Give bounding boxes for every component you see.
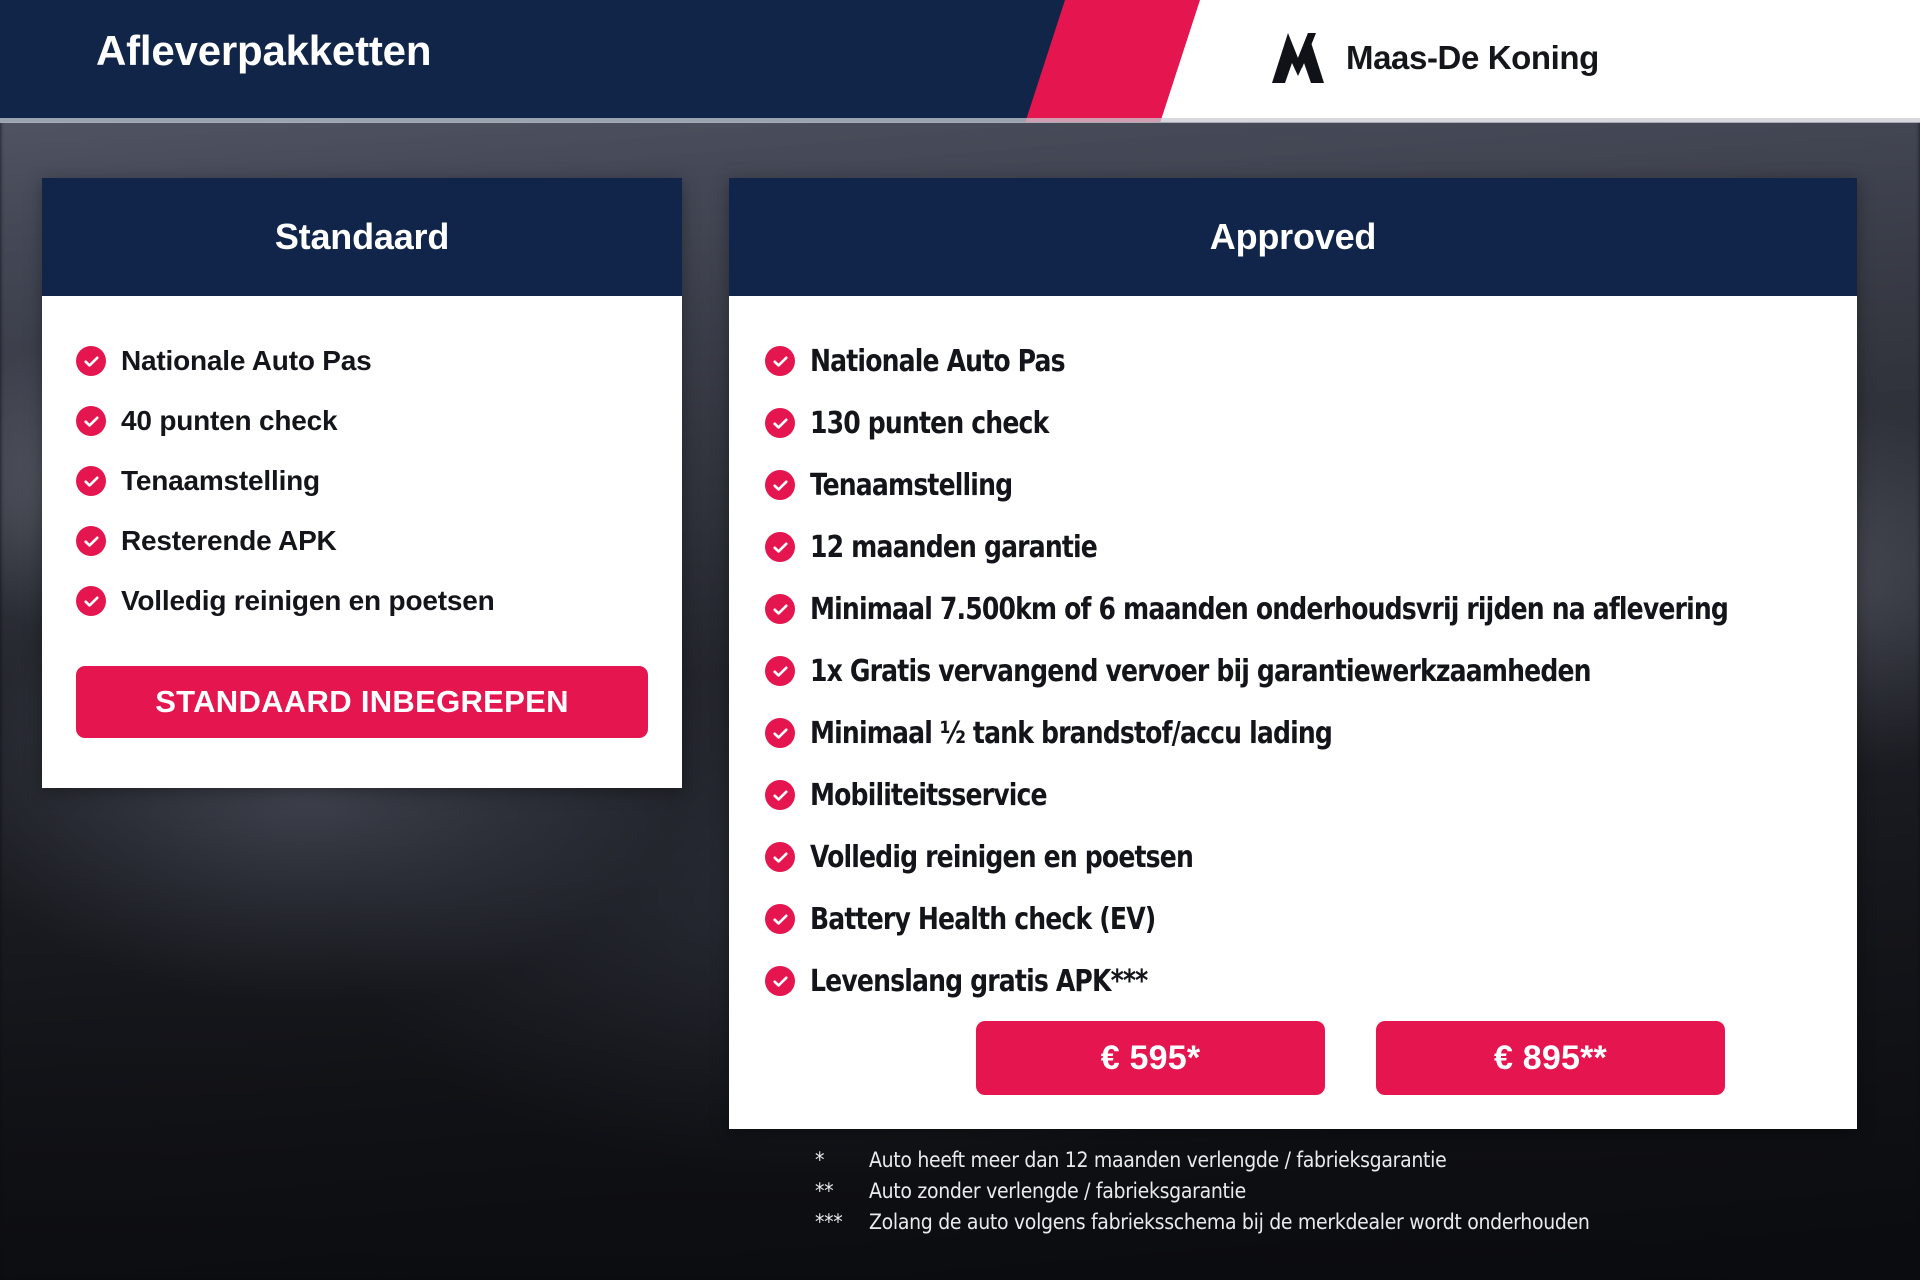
check-circle-icon — [76, 406, 106, 436]
approved-feature-label: Tenaamstelling — [810, 464, 1012, 508]
list-item: Battery Health check (EV) — [765, 898, 1821, 942]
list-item: Tenaamstelling — [76, 461, 648, 501]
header-divider — [0, 118, 1920, 123]
standaard-feature-list: Nationale Auto Pas 40 punten check Tenaa… — [76, 341, 648, 621]
check-circle-icon — [765, 532, 795, 562]
maas-de-koning-m-mark-icon — [1268, 30, 1328, 86]
check-circle-icon — [76, 586, 106, 616]
standaard-feature-label: Resterende APK — [121, 521, 337, 561]
footnote-item: ** Auto zonder verlengde / fabrieksgaran… — [815, 1176, 1590, 1207]
approved-feature-list: Nationale Auto Pas 130 punten check Tena… — [765, 340, 1821, 1004]
list-item: 130 punten check — [765, 402, 1821, 446]
brand-logo: Maas-De Koning — [1268, 30, 1599, 86]
footnote-item: * Auto heeft meer dan 12 maanden verleng… — [815, 1145, 1590, 1176]
footnote-text: Zolang de auto volgens fabrieksschema bi… — [869, 1207, 1590, 1238]
standaard-package-card: Standaard Nationale Auto Pas 40 punten c… — [42, 178, 682, 788]
list-item: Minimaal ½ tank brandstof/accu lading — [765, 712, 1821, 756]
approved-feature-label: Battery Health check (EV) — [810, 898, 1155, 942]
list-item: Nationale Auto Pas — [76, 341, 648, 381]
list-item: Volledig reinigen en poetsen — [765, 836, 1821, 880]
standaard-feature-label: Volledig reinigen en poetsen — [121, 581, 495, 621]
approved-feature-label: 12 maanden garantie — [810, 526, 1097, 570]
footnote-text: Auto heeft meer dan 12 maanden verlengde… — [869, 1145, 1446, 1176]
check-circle-icon — [765, 594, 795, 624]
check-circle-icon — [765, 842, 795, 872]
footnote-marker: * — [815, 1145, 869, 1176]
page-title: Afleverpakketten — [96, 27, 431, 75]
list-item: 12 maanden garantie — [765, 526, 1821, 570]
list-item: Tenaamstelling — [765, 464, 1821, 508]
check-circle-icon — [76, 466, 106, 496]
footnote-list: * Auto heeft meer dan 12 maanden verleng… — [815, 1145, 1590, 1238]
approved-card-title: Approved — [1210, 216, 1376, 258]
check-circle-icon — [76, 526, 106, 556]
check-circle-icon — [765, 966, 795, 996]
standaard-included-button[interactable]: STANDAARD INBEGREPEN — [76, 666, 648, 738]
standaard-card-body: Nationale Auto Pas 40 punten check Tenaa… — [42, 296, 682, 621]
approved-package-card: Approved Nationale Auto Pas 130 punten c… — [729, 178, 1857, 1129]
brand-name: Maas-De Koning — [1346, 39, 1599, 77]
approved-feature-label: 130 punten check — [810, 402, 1048, 446]
approved-feature-label: Volledig reinigen en poetsen — [810, 836, 1193, 880]
list-item: Volledig reinigen en poetsen — [76, 581, 648, 621]
price-button-895[interactable]: € 895** — [1376, 1021, 1725, 1095]
approved-feature-label: Nationale Auto Pas — [810, 340, 1065, 384]
standaard-feature-label: Nationale Auto Pas — [121, 341, 372, 381]
poster-root: Afleverpakketten Maas-De Koning Standaar… — [0, 0, 1920, 1280]
standaard-card-header: Standaard — [42, 178, 682, 296]
approved-card-header: Approved — [729, 178, 1857, 296]
list-item: 40 punten check — [76, 401, 648, 441]
check-circle-icon — [76, 346, 106, 376]
list-item: Mobiliteitsservice — [765, 774, 1821, 818]
approved-card-body: Nationale Auto Pas 130 punten check Tena… — [729, 296, 1857, 1004]
approved-feature-label: 1x Gratis vervangend vervoer bij garanti… — [810, 650, 1591, 694]
standaard-feature-label: 40 punten check — [121, 401, 337, 441]
list-item: Resterende APK — [76, 521, 648, 561]
standaard-card-title: Standaard — [275, 216, 449, 258]
approved-feature-label: Levenslang gratis APK*** — [810, 960, 1147, 1004]
page-header: Afleverpakketten Maas-De Koning — [0, 0, 1920, 122]
footnote-text: Auto zonder verlengde / fabrieksgarantie — [869, 1176, 1246, 1207]
check-circle-icon — [765, 904, 795, 934]
check-circle-icon — [765, 470, 795, 500]
list-item: Minimaal 7.500km of 6 maanden onderhouds… — [765, 588, 1821, 632]
check-circle-icon — [765, 780, 795, 810]
check-circle-icon — [765, 718, 795, 748]
check-circle-icon — [765, 656, 795, 686]
standaard-feature-label: Tenaamstelling — [121, 461, 320, 501]
list-item: 1x Gratis vervangend vervoer bij garanti… — [765, 650, 1821, 694]
approved-feature-label: Minimaal 7.500km of 6 maanden onderhouds… — [810, 588, 1728, 632]
approved-price-row: € 595* € 895** — [729, 1021, 1857, 1095]
approved-feature-label: Mobiliteitsservice — [810, 774, 1047, 818]
footnote-item: *** Zolang de auto volgens fabrieksschem… — [815, 1207, 1590, 1238]
check-circle-icon — [765, 408, 795, 438]
list-item: Nationale Auto Pas — [765, 340, 1821, 384]
price-button-595[interactable]: € 595* — [976, 1021, 1325, 1095]
check-circle-icon — [765, 346, 795, 376]
footnote-marker: *** — [815, 1207, 869, 1238]
footnote-marker: ** — [815, 1176, 869, 1207]
approved-feature-label: Minimaal ½ tank brandstof/accu lading — [810, 712, 1332, 756]
list-item: Levenslang gratis APK*** — [765, 960, 1821, 1004]
